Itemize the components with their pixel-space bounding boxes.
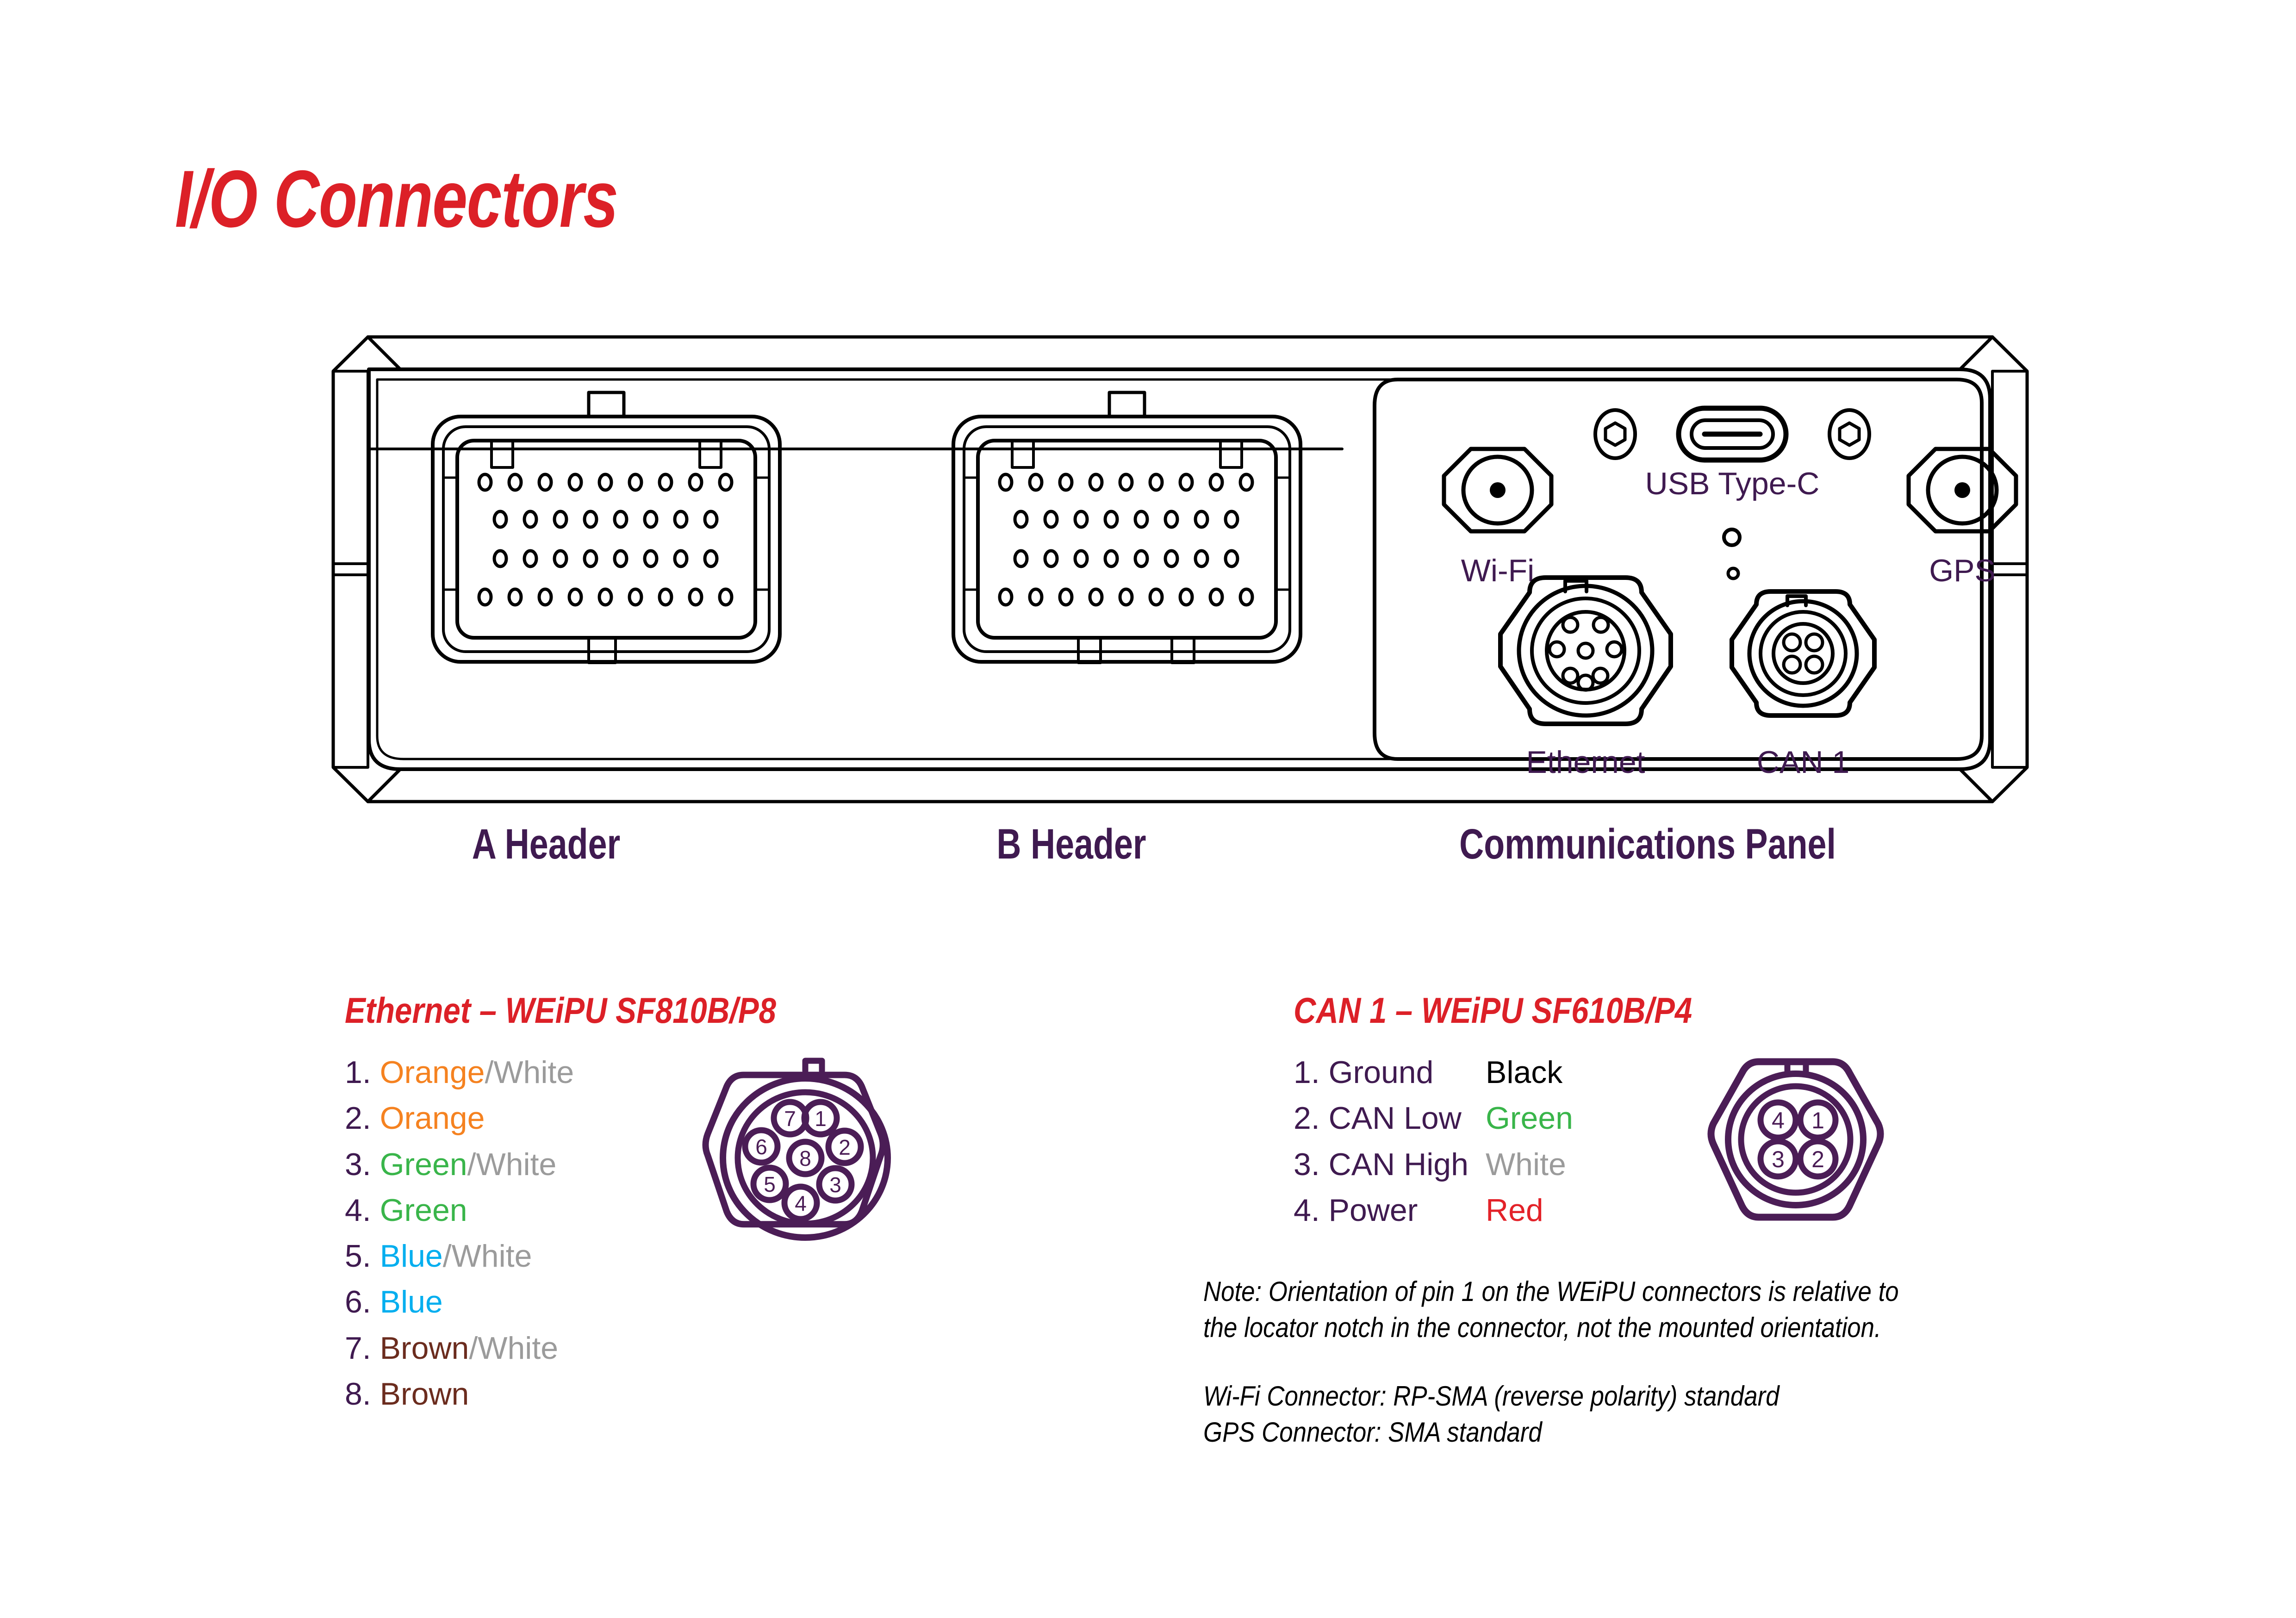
svg-text:2: 2 (839, 1135, 851, 1159)
list-item: 1. Ground Black (1294, 1050, 1573, 1095)
list-item: 7. Brown/White (345, 1326, 574, 1371)
b-header-pins (1000, 474, 1252, 605)
list-item: 2. Orange (345, 1095, 574, 1141)
svg-text:2: 2 (1811, 1146, 1824, 1172)
note-orientation: Note: Orientation of pin 1 on the WEiPU … (1203, 1274, 1899, 1346)
a-header-pins (479, 474, 732, 605)
list-item: 8. Brown (345, 1371, 574, 1417)
wifi-panel-label: Wi-Fi (1461, 553, 1535, 588)
gps-panel-label: GPS (1929, 553, 1996, 588)
list-item: 4. Power Red (1294, 1188, 1573, 1233)
led-hole-upper (1724, 529, 1740, 545)
page-title: I/O Connectors (175, 153, 618, 246)
list-item: 3. CAN High White (1294, 1142, 1573, 1188)
list-item: 3. Green/White (345, 1142, 574, 1188)
svg-text:3: 3 (829, 1173, 841, 1197)
note-connector-standards: Wi-Fi Connector: RP-SMA (reverse polarit… (1203, 1378, 1780, 1450)
can-pinout-title: CAN 1 – WEiPU SF610B/P4 (1294, 989, 1692, 1032)
svg-text:8: 8 (799, 1146, 811, 1170)
usb-hex-screw-left (1595, 410, 1635, 458)
svg-text:3: 3 (1772, 1146, 1785, 1172)
svg-text:7: 7 (784, 1107, 796, 1131)
gps-connector (1909, 449, 2016, 531)
can1-panel-connector (1732, 591, 1874, 716)
caption-communications-panel: Communications Panel (1388, 820, 1907, 869)
caption-b-header: B Header (968, 820, 1175, 869)
list-item: 2. CAN Low Green (1294, 1095, 1573, 1141)
ethernet-connector-diagram: 1 2 3 4 5 6 7 8 (694, 1047, 916, 1271)
usb-hex-screw-right (1829, 410, 1869, 458)
svg-text:1: 1 (815, 1107, 827, 1131)
a-header-connector (433, 392, 780, 663)
can-pin-list: 1. Ground Black 2. CAN Low Green 3. CAN … (1294, 1050, 1573, 1233)
ethernet-panel-label: Ethernet (1526, 745, 1645, 780)
list-item: 4. Green (345, 1188, 574, 1233)
usb-panel-label: USB Type-C (1645, 466, 1820, 501)
list-item: 5. Blue/White (345, 1233, 574, 1279)
list-item: 6. Blue (345, 1279, 574, 1325)
can1-panel-label: CAN 1 (1757, 745, 1849, 780)
ethernet-panel-connector (1500, 578, 1671, 724)
ethernet-pin-list: 1. Orange/White 2. Orange 3. Green/White… (345, 1050, 574, 1417)
led-hole-lower (1728, 568, 1738, 579)
can-connector-diagram: 1 2 3 4 (1703, 1052, 1888, 1239)
b-header-connector (953, 392, 1300, 663)
svg-text:4: 4 (1772, 1108, 1785, 1133)
list-item: 1. Orange/White (345, 1050, 574, 1095)
svg-text:1: 1 (1811, 1108, 1824, 1133)
caption-a-header: A Header (442, 820, 650, 869)
wifi-connector (1444, 449, 1551, 531)
svg-text:5: 5 (764, 1172, 776, 1196)
enclosure-front-face (369, 369, 1990, 769)
svg-text:6: 6 (755, 1135, 767, 1159)
ethernet-pinout-title: Ethernet – WEiPU SF810B/P8 (345, 989, 776, 1032)
usb-type-c-port (1679, 408, 1786, 460)
svg-text:4: 4 (795, 1191, 807, 1215)
device-illustration: Wi-Fi USB Type-C GPS (278, 310, 2083, 828)
